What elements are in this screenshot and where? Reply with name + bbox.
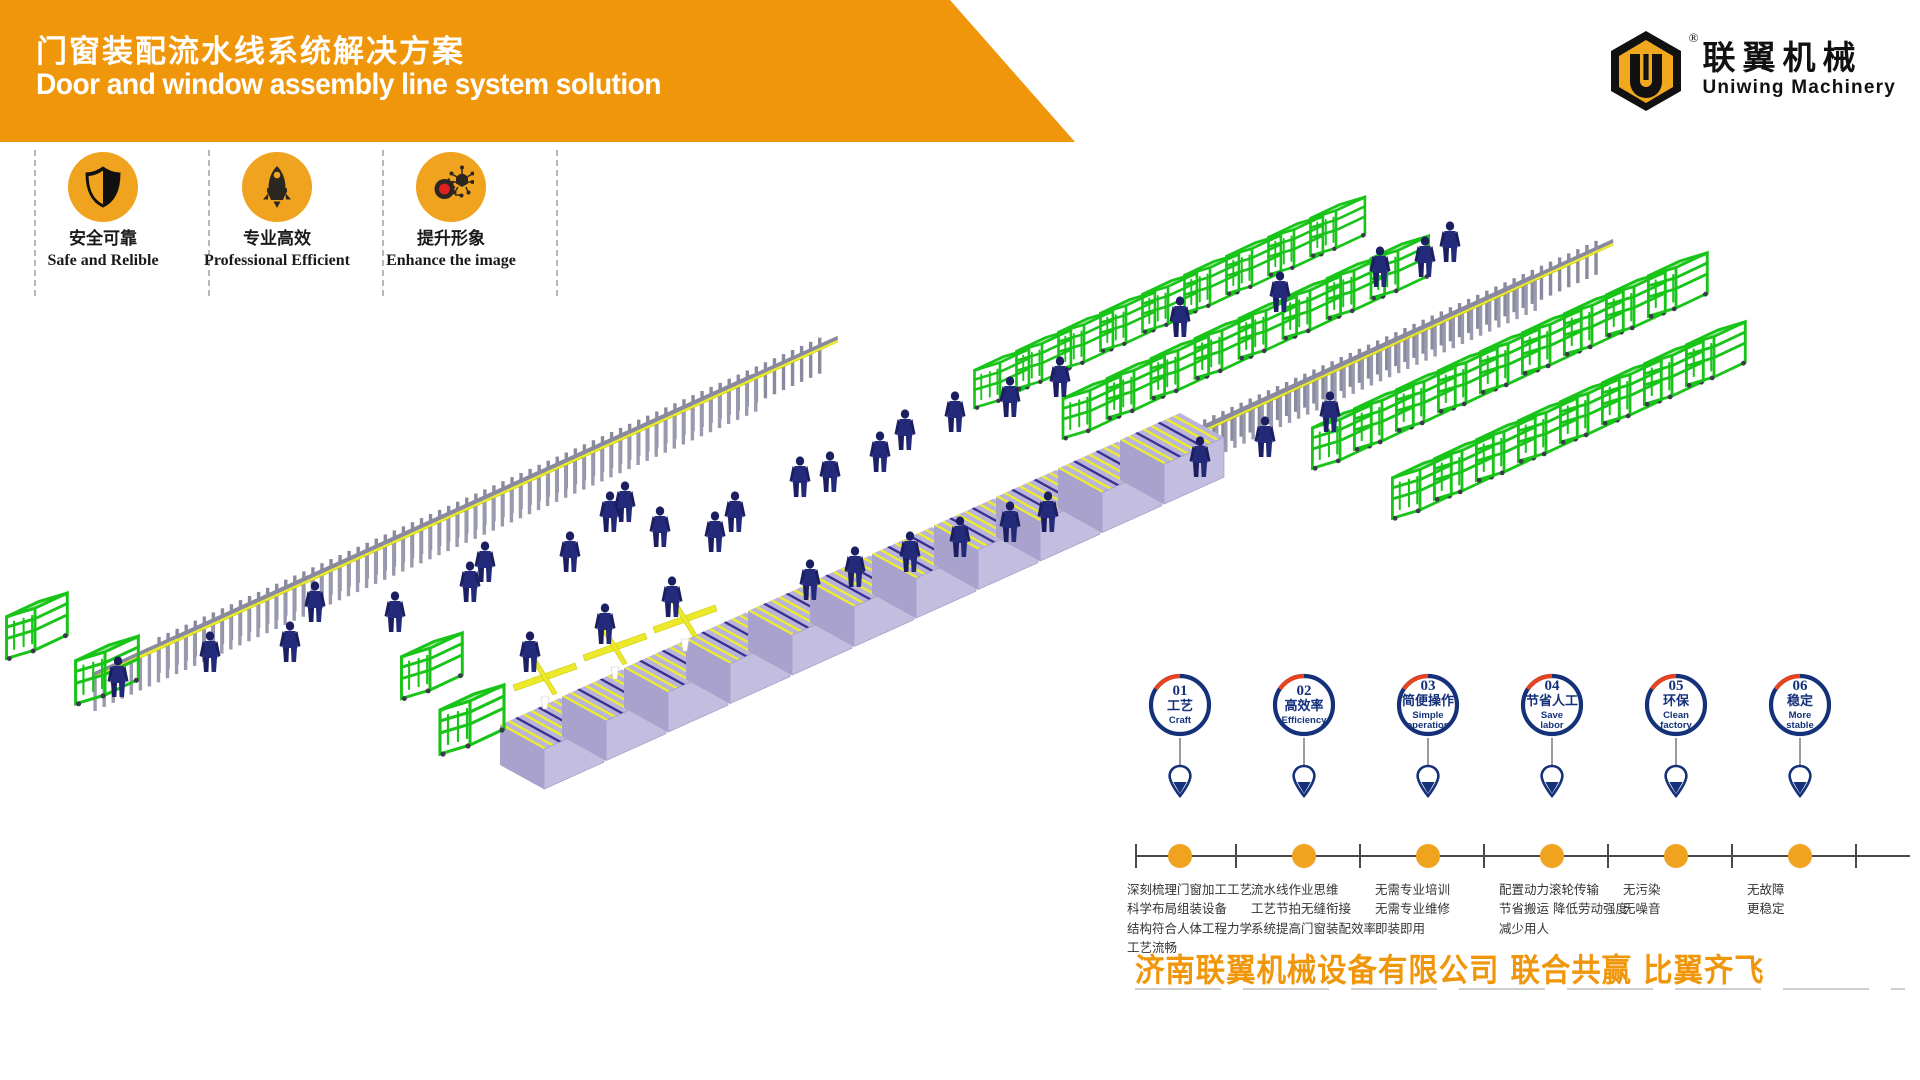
footer-slogan-underline — [1135, 988, 1905, 990]
worker-figure — [460, 561, 481, 602]
registered-trademark-icon: ® — [1689, 30, 1699, 46]
worker-figure — [385, 591, 406, 632]
worker-figure — [725, 491, 746, 532]
timeline-number: 06 — [1793, 679, 1808, 694]
timeline-ring: 01 工艺 Craft — [1147, 672, 1213, 738]
logo-name-en: Uniwing Machinery — [1702, 76, 1896, 100]
worker-figure — [650, 506, 671, 547]
feature-item-efficient: 专业高效 Professional Efficient — [186, 152, 368, 272]
worker-figure — [870, 431, 891, 472]
feature-label-en: Enhance the image — [360, 251, 542, 272]
timeline-label-cn: 环保 — [1663, 695, 1689, 709]
shield-icon — [68, 152, 138, 222]
worker-figure — [1050, 356, 1071, 397]
worker-figure — [560, 531, 581, 572]
timeline-description: 流水线作业思维 工艺节拍无缝衔接 系统提高门窗装配效率 — [1251, 880, 1381, 938]
timeline-stem — [1427, 738, 1429, 765]
worker-figure — [1440, 221, 1461, 262]
map-pin-icon — [1289, 764, 1319, 798]
feature-label-en: Professional Efficient — [186, 251, 368, 272]
timeline-label-cn: 节省人工 — [1526, 695, 1578, 709]
worker-figure — [790, 456, 811, 497]
feature-label-cn: 安全可靠 — [12, 228, 194, 251]
timeline-node-03[interactable]: 03 简便操作 Simpleoperation 无需专业培训 无需专业维修 即装… — [1373, 672, 1483, 738]
timeline-stem — [1179, 738, 1181, 765]
timeline-tick — [1483, 844, 1485, 868]
timeline-label-en: Efficiency — [1282, 716, 1327, 726]
timeline-ring: 03 简便操作 Simpleoperation — [1395, 672, 1461, 738]
feature-label-en: Safe and Relible — [12, 251, 194, 272]
timeline-dot — [1292, 844, 1316, 868]
feature-divider — [556, 150, 558, 296]
timeline-node-02[interactable]: 02 高效率 Efficiency 流水线作业思维 工艺节拍无缝衔接 系统提高门… — [1249, 672, 1359, 738]
timeline-ring: 04 节省人工 Savelabor — [1519, 672, 1585, 738]
poster-root: 门窗装配流水线系统解决方案 Door and window assembly l… — [0, 0, 1920, 1080]
timeline-number: 01 — [1173, 684, 1188, 699]
timeline-dot — [1540, 844, 1564, 868]
timeline-description: 无需专业培训 无需专业维修 即装即用 — [1375, 880, 1505, 938]
banner-title-en: Door and window assembly line system sol… — [36, 68, 661, 102]
logo-wordmark: 联翼机械 Uniwing Machinery — [1702, 40, 1896, 99]
feature-item-safe: 安全可靠 Safe and Relible — [12, 152, 194, 272]
worker-figure — [280, 621, 301, 662]
timeline-node-06[interactable]: 06 稳定 Morestable 无故障 更稳定 — [1745, 672, 1855, 738]
worker-figure — [945, 391, 966, 432]
timeline-description: 配置动力滚轮传输 节省搬运 降低劳动强度 减少用人 — [1499, 880, 1629, 938]
timeline-stem — [1799, 738, 1801, 765]
map-pin-icon — [1165, 764, 1195, 798]
feature-label-cn: 专业高效 — [186, 228, 368, 251]
material-cart — [1392, 455, 1451, 521]
timeline-tick — [1135, 844, 1137, 868]
rocket-icon — [242, 152, 312, 222]
timeline-stem — [1303, 738, 1305, 765]
worker-figure — [705, 511, 726, 552]
feature-item-image: 提升形象 Enhance the image — [360, 152, 542, 272]
timeline-dot — [1788, 844, 1812, 868]
timeline-node-05[interactable]: 05 环保 Cleanfactory 无污染 无噪音 — [1621, 672, 1731, 738]
footer-slogan: 济南联翼机械设备有限公司 联合共赢 比翼齐飞 — [1135, 945, 1765, 991]
map-pin-icon — [1785, 764, 1815, 798]
timeline-label-cn: 高效率 — [1284, 700, 1323, 714]
timeline-ring: 06 稳定 Morestable — [1767, 672, 1833, 738]
worker-figure — [1170, 296, 1191, 337]
map-pin-icon — [1413, 764, 1443, 798]
benefits-timeline: 01 工艺 Craft 深刻梳理门窗加工工艺 科学布局组装设备 结构符合人体工程… — [1135, 672, 1910, 962]
timeline-label-en: Simpleoperation — [1406, 711, 1449, 731]
timeline-label-en: Cleanfactory — [1660, 711, 1692, 731]
timeline-label-cn: 简便操作 — [1402, 695, 1454, 709]
material-cart — [402, 633, 463, 701]
timeline-tick — [1607, 844, 1609, 868]
gear-network-icon — [416, 152, 486, 222]
feature-label-cn: 提升形象 — [360, 228, 542, 251]
map-pin-icon — [1661, 764, 1691, 798]
banner-title-cn: 门窗装配流水线系统解决方案 — [36, 26, 465, 71]
timeline-number: 02 — [1297, 684, 1312, 699]
timeline-tick — [1855, 844, 1857, 868]
timeline-description: 无故障 更稳定 — [1747, 880, 1877, 919]
logo-name-cn: 联翼机械 — [1702, 40, 1896, 76]
timeline-node-04[interactable]: 04 节省人工 Savelabor 配置动力滚轮传输 节省搬运 降低劳动强度 减… — [1497, 672, 1607, 738]
timeline-tick — [1235, 844, 1237, 868]
timeline-label-en: Savelabor — [1540, 711, 1563, 731]
timeline-number: 03 — [1421, 679, 1436, 694]
timeline-number: 05 — [1669, 679, 1684, 694]
material-cart — [6, 593, 67, 661]
timeline-stem — [1551, 738, 1553, 765]
timeline-label-en: Morestable — [1786, 711, 1813, 731]
timeline-label-cn: 工艺 — [1167, 700, 1193, 714]
worker-figure — [895, 409, 916, 450]
timeline-tick — [1359, 844, 1361, 868]
timeline-description: 无污染 无噪音 — [1623, 880, 1753, 919]
map-pin-icon — [1537, 764, 1567, 798]
timeline-ring: 05 环保 Cleanfactory — [1643, 672, 1709, 738]
timeline-dot — [1664, 844, 1688, 868]
worker-figure — [595, 603, 616, 644]
timeline-number: 04 — [1545, 679, 1560, 694]
company-logo: ® 联翼机械 Uniwing Machinery — [1604, 28, 1896, 112]
worker-figure — [820, 451, 841, 492]
material-cart — [440, 685, 505, 757]
timeline-dot — [1168, 844, 1192, 868]
timeline-label-en: Craft — [1169, 716, 1191, 726]
timeline-stem — [1675, 738, 1677, 765]
uniwing-hex-u-logo-icon: ® — [1604, 28, 1688, 112]
timeline-ring: 02 高效率 Efficiency — [1271, 672, 1337, 738]
timeline-label-cn: 稳定 — [1787, 695, 1813, 709]
timeline-node-01[interactable]: 01 工艺 Craft 深刻梳理门窗加工工艺 科学布局组装设备 结构符合人体工程… — [1125, 672, 1235, 738]
timeline-dot — [1416, 844, 1440, 868]
feature-strip: 安全可靠 Safe and Relible 专业高效 Professional … — [0, 146, 580, 298]
timeline-tick — [1731, 844, 1733, 868]
